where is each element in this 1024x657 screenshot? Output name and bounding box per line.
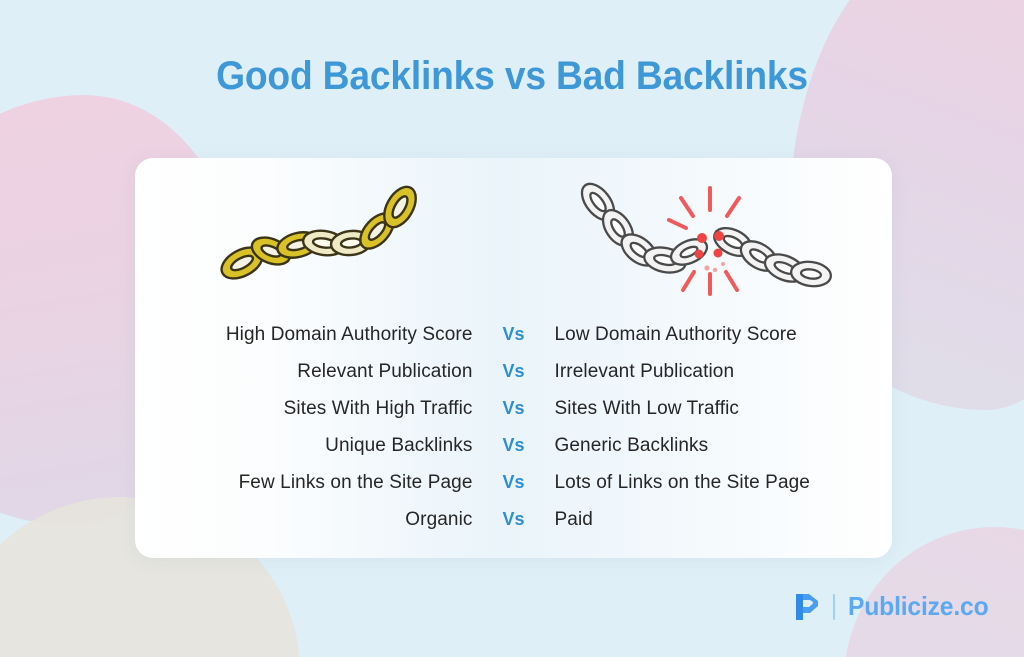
bad-item-label: Sites With Low Traffic: [555, 398, 740, 419]
bad-item-label: Irrelevant Publication: [555, 361, 735, 382]
comparison-list: High Domain Authority Score Vs Low Domai…: [135, 316, 892, 538]
brand-footer: Publicize.co: [794, 591, 996, 622]
comparison-row: Organic Vs Paid: [135, 501, 892, 538]
publicize-p-logomark-icon: [794, 593, 820, 621]
infographic-canvas: Good Backlinks vs Bad Backlinks: [0, 0, 1024, 657]
logo-divider: [833, 594, 835, 620]
good-item-cell: High Domain Authority Score: [135, 324, 485, 346]
comparison-row: Relevant Publication Vs Irrelevant Publi…: [135, 353, 892, 390]
vs-label: Vs: [485, 472, 543, 493]
comparison-row: Sites With High Traffic Vs Sites With Lo…: [135, 390, 892, 427]
bad-item-label: Low Domain Authority Score: [555, 324, 797, 345]
bad-item-cell: Sites With Low Traffic: [543, 398, 893, 420]
good-item-label: High Domain Authority Score: [226, 324, 473, 345]
good-item-cell: Unique Backlinks: [135, 435, 485, 457]
vs-label: Vs: [485, 361, 543, 382]
good-item-cell: Relevant Publication: [135, 361, 485, 383]
good-item-cell: Sites With High Traffic: [135, 398, 485, 420]
good-item-label: Organic: [405, 509, 472, 530]
broken-white-chain-icon: [573, 180, 833, 300]
comparison-row: Few Links on the Site Page Vs Lots of Li…: [135, 464, 892, 501]
good-chain-cell: [135, 170, 514, 310]
vs-label: Vs: [485, 324, 543, 345]
brand-name: Publicize.co: [848, 591, 988, 622]
comparison-card: High Domain Authority Score Vs Low Domai…: [135, 158, 892, 558]
vs-label: Vs: [485, 435, 543, 456]
vs-label: Vs: [485, 509, 543, 530]
good-item-label: Relevant Publication: [297, 361, 472, 382]
bad-item-cell: Lots of Links on the Site Page: [543, 472, 893, 494]
bad-item-label: Lots of Links on the Site Page: [555, 472, 810, 493]
illustration-row: [135, 170, 892, 310]
vs-label: Vs: [485, 398, 543, 419]
page-title: Good Backlinks vs Bad Backlinks: [36, 54, 988, 99]
comparison-row: High Domain Authority Score Vs Low Domai…: [135, 316, 892, 353]
bad-item-cell: Low Domain Authority Score: [543, 324, 893, 346]
bad-item-label: Paid: [555, 509, 593, 530]
bad-item-label: Generic Backlinks: [555, 435, 709, 456]
good-item-label: Sites With High Traffic: [284, 398, 473, 419]
bad-item-cell: Paid: [543, 509, 893, 531]
good-item-cell: Organic: [135, 509, 485, 531]
bad-item-cell: Generic Backlinks: [543, 435, 893, 457]
good-item-label: Unique Backlinks: [325, 435, 472, 456]
good-item-cell: Few Links on the Site Page: [135, 472, 485, 494]
comparison-row: Unique Backlinks Vs Generic Backlinks: [135, 427, 892, 464]
gold-intact-chain-icon: [214, 185, 434, 295]
bad-chain-cell: [514, 170, 893, 310]
good-item-label: Few Links on the Site Page: [239, 472, 473, 493]
bad-item-cell: Irrelevant Publication: [543, 361, 893, 383]
